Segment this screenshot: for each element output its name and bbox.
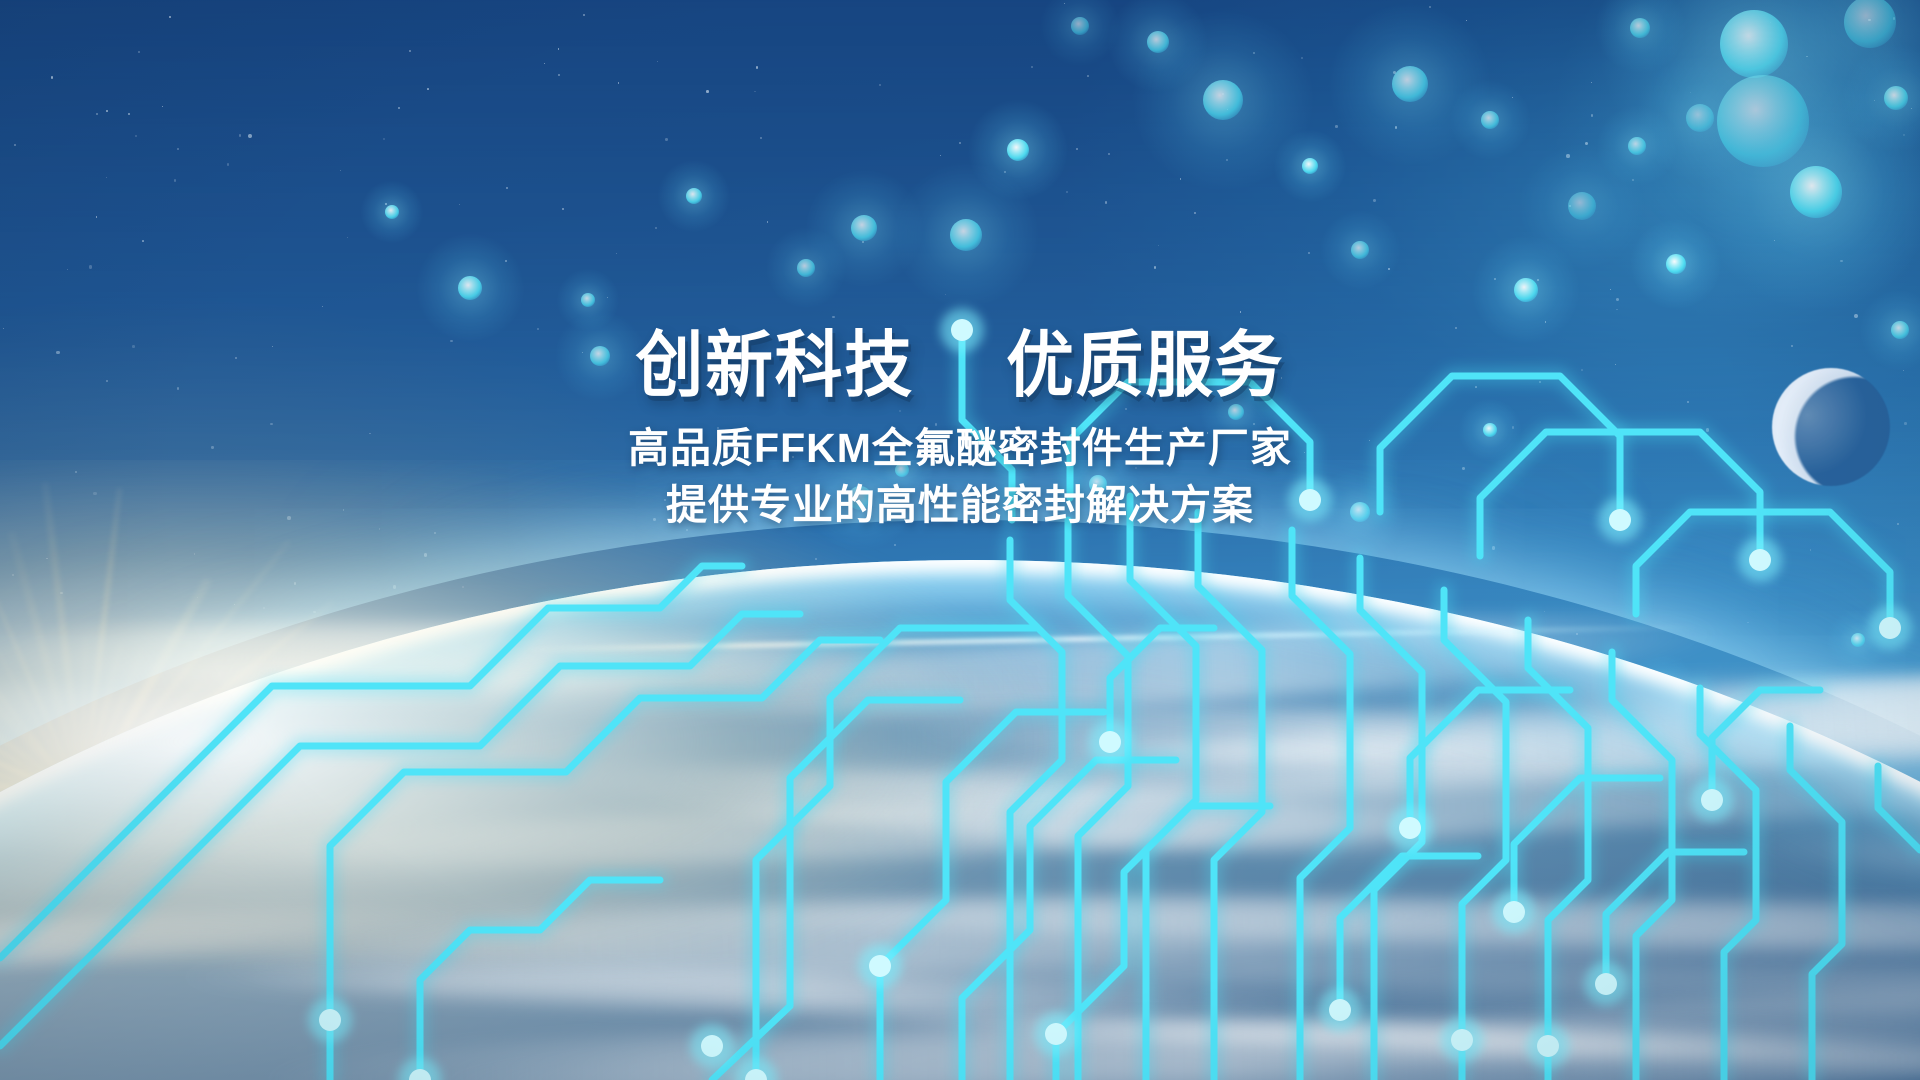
circuit-node [1595, 973, 1617, 995]
circuit-node [1503, 901, 1525, 923]
circuit-node [1329, 999, 1351, 1021]
circuit-node [319, 1009, 341, 1031]
hero-banner: 创新科技 优质服务 高品质FFKM全氟醚密封件生产厂家 提供专业的高性能密封解决… [0, 0, 1920, 1080]
circuit-trace [420, 880, 660, 1080]
circuit-node [1045, 1023, 1067, 1045]
circuit-trace-glow [0, 566, 742, 958]
circuit-trace-overlay [0, 0, 1920, 1080]
circuit-trace-glow [420, 880, 660, 1080]
circuit-trace [0, 566, 742, 958]
circuit-trace-glow [1130, 496, 1196, 1080]
banner-copy: 创新科技 优质服务 高品质FFKM全氟醚密封件生产厂家 提供专业的高性能密封解决… [0, 330, 1920, 533]
circuit-node [1537, 1035, 1559, 1057]
banner-headline: 创新科技 优质服务 [58, 330, 1863, 402]
circuit-node [869, 955, 891, 977]
banner-subtitle-line-1: 高品质FFKM全氟醚密封件生产厂家 [0, 422, 1920, 475]
circuit-node [1879, 617, 1901, 639]
circuit-trace-glow [1444, 590, 1506, 1080]
circuit-node [1451, 1029, 1473, 1051]
circuit-trace-glow [1878, 766, 1920, 850]
circuit-node [1749, 549, 1771, 571]
banner-subtitle-line-2: 提供专业的高性能密封解决方案 [0, 479, 1920, 532]
circuit-node [701, 1035, 723, 1057]
circuit-node [1701, 789, 1723, 811]
headline-part-1: 创新科技 [636, 326, 914, 406]
circuit-node [1399, 817, 1421, 839]
circuit-node [1099, 731, 1121, 753]
headline-part-2: 优质服务 [1006, 326, 1284, 406]
